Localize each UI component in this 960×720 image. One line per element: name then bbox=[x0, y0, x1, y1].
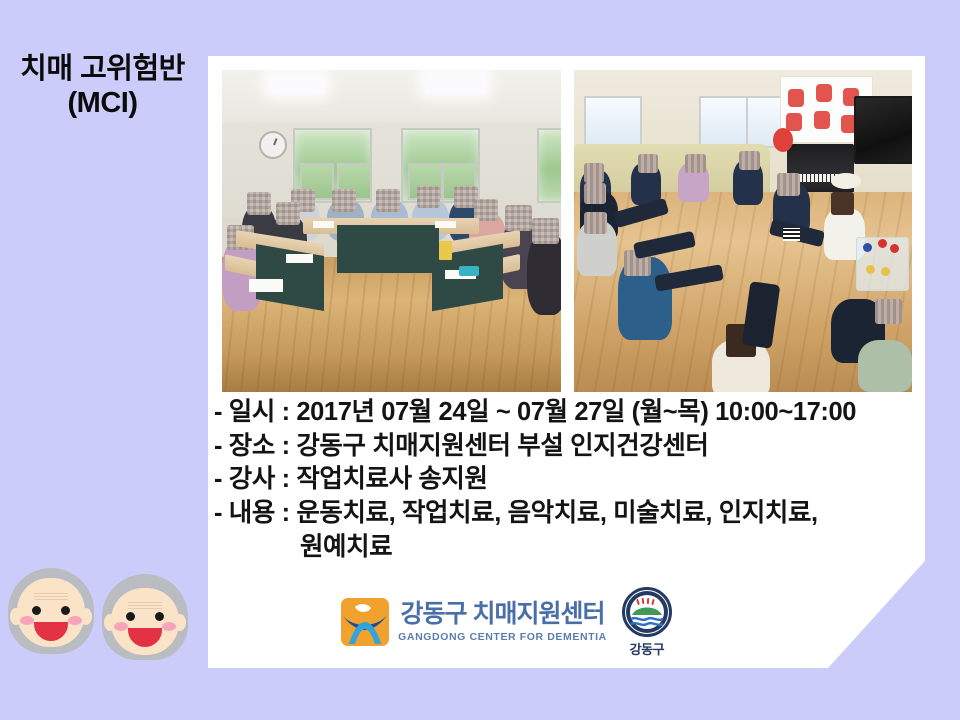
detail-row-content: - 내용 : 운동치료, 작업치료, 음악치료, 미술치료, 인지치료, bbox=[214, 497, 919, 531]
page-title: 치매 고위험반 (MCI) bbox=[0, 52, 205, 120]
elder-mascots bbox=[4, 568, 194, 668]
exercise-room-photo bbox=[574, 70, 913, 392]
detail-row-content-continued: 원예치료 bbox=[214, 531, 919, 565]
page-title-line1: 치매 고위험반 bbox=[0, 52, 205, 86]
photo-row bbox=[222, 70, 912, 392]
toy-bin bbox=[856, 237, 909, 291]
dementia-center-logo-text: 강동구 치매지원센터 GANGDONG CENTER FOR DEMENTIA bbox=[398, 602, 607, 643]
classroom-group-photo bbox=[222, 70, 561, 392]
detail-row-datetime: - 일시 : 2017년 07월 24일 ~ 07월 27일 (월~목) 10:… bbox=[214, 396, 919, 430]
content-card: - 일시 : 2017년 07월 24일 ~ 07월 27일 (월~목) 10:… bbox=[208, 56, 925, 668]
footer-logos: 강동구 치매지원센터 GANGDONG CENTER FOR DEMENTIA bbox=[208, 584, 925, 660]
detail-row-location: - 장소 : 강동구 치매지원센터 부설 인지건강센터 bbox=[214, 430, 919, 464]
gangdong-emblem: 강동구 bbox=[622, 587, 672, 658]
detail-list: - 일시 : 2017년 07월 24일 ~ 07월 27일 (월~목) 10:… bbox=[214, 396, 919, 564]
wall-tv bbox=[854, 96, 912, 164]
grandmother-face bbox=[8, 568, 94, 654]
grandfather-face bbox=[102, 574, 188, 660]
logo-english-name: GANGDONG CENTER FOR DEMENTIA bbox=[398, 631, 607, 643]
dementia-center-logo-icon bbox=[341, 598, 389, 646]
gangdong-emblem-label: 강동구 bbox=[630, 639, 664, 658]
page-title-line2: (MCI) bbox=[0, 86, 205, 120]
gangdong-emblem-icon bbox=[622, 587, 672, 637]
logo-korean-name: 강동구 치매지원센터 bbox=[401, 602, 605, 627]
detail-row-instructor: - 강사 : 작업치료사 송지원 bbox=[214, 463, 919, 497]
